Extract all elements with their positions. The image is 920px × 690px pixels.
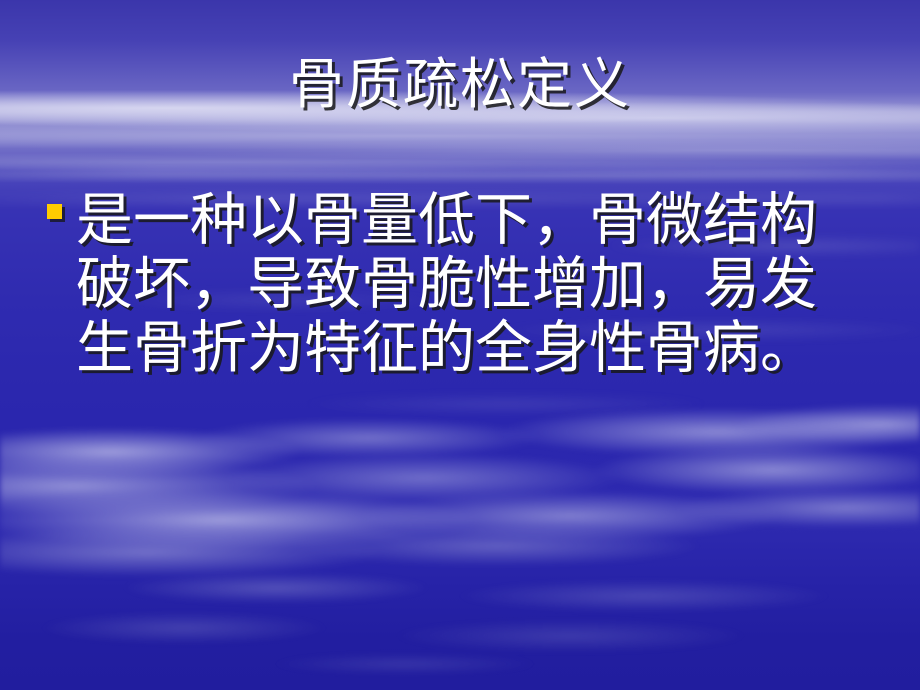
bullet-line: 生骨折为特征的全身性骨病。 (76, 316, 884, 380)
slide-body: 是一种以骨量低下，骨微结构 破坏，导致骨脆性增加，易发 生骨折为特征的全身性骨病… (44, 188, 884, 380)
bullet-line: 是一种以骨量低下，骨微结构 (76, 188, 884, 252)
slide-title: 骨质疏松定义 (0, 52, 920, 116)
square-bullet-icon (47, 204, 62, 219)
bullet-line: 破坏，导致骨脆性增加，易发 (76, 252, 884, 316)
bullet-paragraph: 是一种以骨量低下，骨微结构 破坏，导致骨脆性增加，易发 生骨折为特征的全身性骨病… (76, 188, 884, 380)
list-item: 是一种以骨量低下，骨微结构 破坏，导致骨脆性增加，易发 生骨折为特征的全身性骨病… (44, 188, 884, 380)
presentation-slide: 骨质疏松定义 是一种以骨量低下，骨微结构 破坏，导致骨脆性增加，易发 生骨折为特… (0, 0, 920, 690)
